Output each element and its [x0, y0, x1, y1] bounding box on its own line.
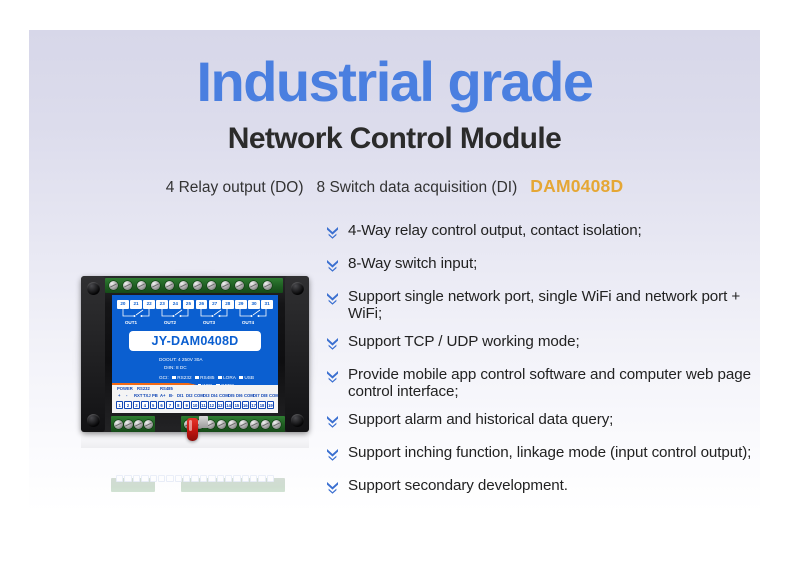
mounting-hole-icon [291, 282, 304, 295]
mounting-hole-icon [87, 282, 100, 295]
terminal-cell: 6 [158, 401, 165, 409]
product-image: 20 21 22 23 24 25 26 27 28 29 30 31 [69, 248, 324, 478]
spec-switch-input: 8 Switch data acquisition (DI) [317, 179, 518, 197]
terminal-cell: 3 [133, 401, 140, 409]
relay-terminal-number-row: 20 21 22 23 24 25 26 27 28 29 30 31 [117, 300, 273, 309]
pin-label: DI6 [236, 393, 243, 398]
relay-group-label: OUT1 [116, 320, 146, 325]
terminal-screw-icon [193, 281, 202, 290]
bottom-group-rs485: RS485 [160, 386, 173, 391]
pin-label: TXJ [143, 393, 151, 398]
terminal-screw-icon [124, 420, 133, 429]
terminal-screw-icon [217, 420, 226, 429]
terminal-cell: 8 [175, 401, 182, 409]
terminal-cell: 18 [258, 401, 265, 409]
terminal-cell: 12 [208, 401, 215, 409]
product-banner: Industrial grade Network Control Module … [29, 30, 760, 554]
mounting-hole-icon [87, 414, 100, 427]
list-item-label: Support alarm and historical data query; [348, 411, 613, 428]
relay-terminal-cell: 24 [169, 300, 181, 309]
checkbox-icon [172, 376, 176, 380]
terminal-cell: 2 [124, 401, 131, 409]
list-item: 8-Way switch input; [326, 255, 760, 277]
relay-terminal-cell: 22 [143, 300, 155, 309]
relay-terminal-cell: 26 [196, 300, 208, 309]
terminal-cell: 4 [141, 401, 148, 409]
spec-doout: DOOUT: 4 250V 30A [159, 357, 203, 363]
pin-label: + [118, 393, 120, 398]
spec-gci-row1: GCI:RS232RS485LORAUSB [159, 375, 254, 381]
double-chevron-down-icon [326, 291, 339, 310]
terminal-screw-icon [249, 281, 258, 290]
led-clip [199, 416, 208, 428]
terminal-screw-icon [114, 420, 123, 429]
relay-terminal-cell: 29 [235, 300, 247, 309]
pin-label: B- [169, 393, 173, 398]
terminal-cell: 7 [166, 401, 173, 409]
terminal-screw-icon [221, 281, 230, 290]
double-chevron-down-icon [326, 369, 339, 388]
spec-relay-output: 4 Relay output (DO) [166, 179, 304, 197]
double-chevron-down-icon [326, 480, 339, 499]
pin-label: DI1 [177, 393, 184, 398]
feature-list: 4-Way relay control output, contact isol… [326, 222, 760, 510]
double-chevron-down-icon [326, 258, 339, 277]
relay-terminal-cell: 25 [183, 300, 195, 309]
gci-label: GCI: [159, 375, 169, 380]
terminal-screw-icon [134, 420, 143, 429]
terminal-screw-icon [137, 281, 146, 290]
bottom-group-rs232: RS232 [137, 386, 150, 391]
list-item-label: 8-Way switch input; [348, 255, 477, 272]
terminal-screw-icon [228, 420, 237, 429]
reflection-terminal-row [116, 475, 274, 482]
list-item: Support secondary development. [326, 477, 760, 499]
list-item: Provide mobile app control software and … [326, 366, 760, 400]
mounting-ear-right [285, 276, 309, 432]
spec-diin: DIIN: 8 DC [164, 365, 187, 371]
relay-group-label: OUT4 [233, 320, 263, 325]
pin-label: PB [152, 393, 158, 398]
relay-terminal-cell: 27 [209, 300, 221, 309]
terminal-screw-icon [165, 281, 174, 290]
list-item-label: Provide mobile app control software and … [348, 366, 760, 400]
relay-terminal-cell: 30 [248, 300, 260, 309]
relay-group-label: OUT3 [194, 320, 224, 325]
terminal-screw-icon [263, 281, 272, 290]
list-item-label: 4-Way relay control output, contact isol… [348, 222, 642, 239]
list-item: 4-Way relay control output, contact isol… [326, 222, 760, 244]
terminal-cell: 11 [200, 401, 207, 409]
terminal-screw-icon [261, 420, 270, 429]
list-item: Support alarm and historical data query; [326, 411, 760, 433]
checkbox-icon [218, 376, 222, 380]
gci-option: RS485 [200, 375, 214, 380]
relay-terminal-cell: 28 [222, 300, 234, 309]
gci-option: RS232 [177, 375, 191, 380]
double-chevron-down-icon [326, 447, 339, 466]
terminal-cell: 14 [225, 401, 232, 409]
double-chevron-down-icon [326, 336, 339, 355]
terminal-screw-icon [239, 420, 248, 429]
double-chevron-down-icon [326, 225, 339, 244]
relay-group-label: OUT2 [155, 320, 185, 325]
terminal-cell: 16 [242, 401, 249, 409]
terminal-screw-icon [207, 281, 216, 290]
bottom-group-power: POWER [117, 386, 133, 391]
list-item-label: Support single network port, single WiFi… [348, 288, 760, 322]
spec-summary-row: 4 Relay output (DO) 8 Switch data acquis… [29, 154, 760, 197]
terminal-screw-icon [151, 281, 160, 290]
gci-option: LORA [223, 375, 236, 380]
pin-label: DI7 [253, 393, 260, 398]
relay-terminal-cell: 23 [156, 300, 168, 309]
list-item-label: Support TCP / UDP working mode; [348, 333, 580, 350]
pin-label: DI5 [228, 393, 235, 398]
terminal-screw-icon [109, 281, 118, 290]
checkbox-icon [195, 376, 199, 380]
device-faceplate: 20 21 22 23 24 25 26 27 28 29 30 31 [112, 295, 278, 413]
model-plate: JY-DAM0408D [129, 331, 261, 351]
relay-terminal-cell: 21 [130, 300, 142, 309]
bottom-terminal-number-row: 1 2 3 4 5 6 7 8 9 10 11 12 13 14 15 16 1… [116, 401, 274, 409]
headline-block: Industrial grade Network Control Module … [29, 30, 760, 197]
terminal-cell: 9 [183, 401, 190, 409]
terminal-screw-icon [179, 281, 188, 290]
mounting-hole-icon [291, 414, 304, 427]
terminal-cell: 17 [250, 401, 257, 409]
pin-label: A+ [160, 393, 165, 398]
relay-schematic-icon [117, 309, 273, 320]
red-led-indicator [187, 418, 198, 441]
double-chevron-down-icon [326, 414, 339, 433]
terminal-screw-icon [123, 281, 132, 290]
checkbox-icon [239, 376, 243, 380]
page-title: Industrial grade [29, 30, 760, 110]
terminal-cell: 19 [267, 401, 274, 409]
terminal-cell: 15 [233, 401, 240, 409]
list-item: Support single network port, single WiFi… [326, 288, 760, 322]
terminal-cell: 5 [150, 401, 157, 409]
gci-option: USB [244, 375, 254, 380]
page-subtitle: Network Control Module [29, 110, 760, 154]
terminal-cell: 10 [191, 401, 198, 409]
terminal-screw-icon [272, 420, 281, 429]
relay-terminal-cell: 20 [117, 300, 129, 309]
terminal-screw-icon [250, 420, 259, 429]
pin-label: DI2 [186, 393, 193, 398]
pin-label: RXT [134, 393, 142, 398]
pin-label: DI8 [261, 393, 268, 398]
model-code: DAM0408D [530, 176, 623, 197]
pin-label: DI3 [203, 393, 210, 398]
device-reflection [81, 434, 309, 492]
list-item: Support TCP / UDP working mode; [326, 333, 760, 355]
terminal-screw-icon [144, 420, 153, 429]
relay-terminal-cell: 31 [261, 300, 273, 309]
pin-label: COM [269, 393, 278, 398]
pin-label: DI4 [211, 393, 218, 398]
terminal-screw-icon [235, 281, 244, 290]
list-item: Support inching function, linkage mode (… [326, 444, 760, 466]
list-item-label: Support inching function, linkage mode (… [348, 444, 751, 461]
terminal-cell: 13 [217, 401, 224, 409]
pin-label: - [126, 393, 127, 398]
terminal-cell: 1 [116, 401, 123, 409]
list-item-label: Support secondary development. [348, 477, 568, 494]
mounting-ear-left [81, 276, 105, 432]
